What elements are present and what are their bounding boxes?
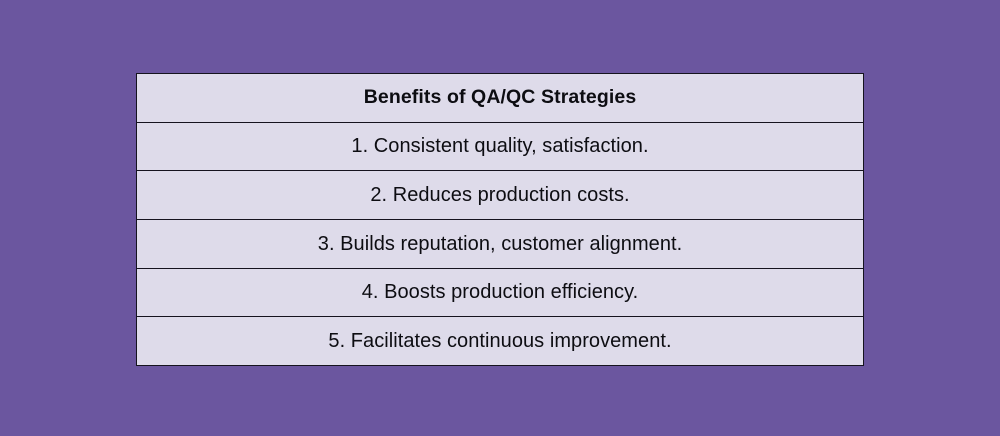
benefits-table: Benefits of QA/QC Strategies 1. Consiste… — [136, 73, 864, 366]
table-cell-benefit: 1. Consistent quality, satisfaction. — [137, 122, 864, 171]
table-header-row: Benefits of QA/QC Strategies — [137, 74, 864, 123]
table-cell-benefit: 3. Builds reputation, customer alignment… — [137, 219, 864, 268]
table-row: 3. Builds reputation, customer alignment… — [137, 219, 864, 268]
table-body: 1. Consistent quality, satisfaction.2. R… — [137, 122, 864, 365]
table-row: 1. Consistent quality, satisfaction. — [137, 122, 864, 171]
table-row: 5. Facilitates continuous improvement. — [137, 317, 864, 366]
table-cell-benefit: 4. Boosts production efficiency. — [137, 268, 864, 317]
table-cell-benefit: 5. Facilitates continuous improvement. — [137, 317, 864, 366]
table-row: 2. Reduces production costs. — [137, 171, 864, 220]
table-cell-benefit: 2. Reduces production costs. — [137, 171, 864, 220]
table-header-group: Benefits of QA/QC Strategies — [137, 74, 864, 123]
page-canvas: Benefits of QA/QC Strategies 1. Consiste… — [0, 0, 1000, 436]
table-header-cell: Benefits of QA/QC Strategies — [137, 74, 864, 123]
table-row: 4. Boosts production efficiency. — [137, 268, 864, 317]
